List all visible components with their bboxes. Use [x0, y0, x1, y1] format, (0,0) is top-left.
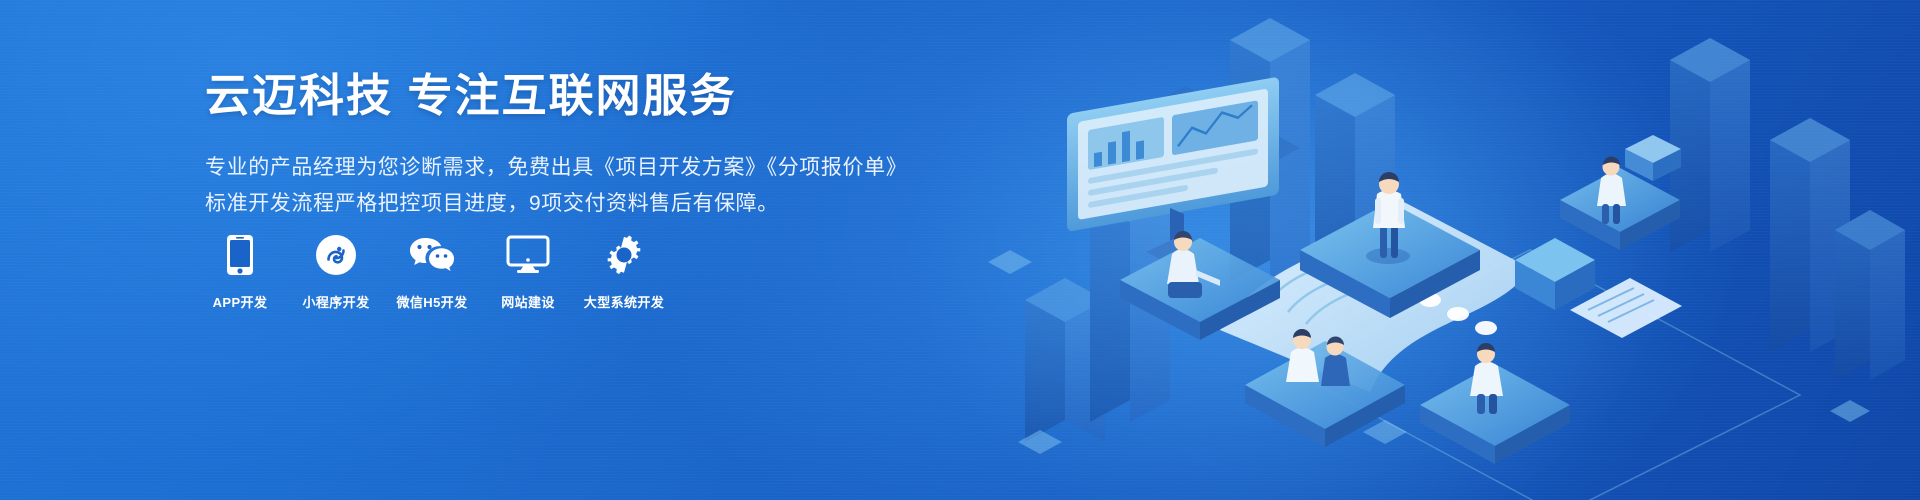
service-label: APP开发 [213, 292, 268, 311]
background-glow [900, 0, 1680, 500]
service-label: 微信H5开发 [396, 292, 467, 311]
mobile-phone-icon[interactable] [226, 232, 254, 278]
service-item-app[interactable]: APP开发 [205, 232, 275, 311]
monitor-icon[interactable] [506, 232, 550, 278]
subtitle-line-1: 专业的产品经理为您诊断需求，免费出具《项目开发方案》《分项报价单》 [205, 150, 905, 186]
service-item-website[interactable]: 网站建设 [493, 232, 563, 311]
gear-icon[interactable] [603, 232, 645, 278]
service-label: 小程序开发 [302, 292, 369, 311]
banner-subtitle: 专业的产品经理为您诊断需求，免费出具《项目开发方案》《分项报价单》 标准开发流程… [205, 150, 905, 222]
banner-text-block: 云迈科技 专注互联网服务 专业的产品经理为您诊断需求，免费出具《项目开发方案》《… [205, 68, 905, 222]
page-title: 云迈科技 专注互联网服务 [205, 68, 905, 124]
isometric-tech-team-illustration [970, 0, 1920, 500]
service-item-wechat-h5[interactable]: 微信H5开发 [397, 232, 467, 311]
service-item-large-system[interactable]: 大型系统开发 [589, 232, 659, 311]
service-label: 网站建设 [501, 292, 555, 311]
mini-program-icon[interactable] [315, 232, 357, 278]
service-label: 大型系统开发 [584, 292, 664, 311]
service-list: APP开发 小程序开发 [205, 232, 659, 311]
hero-banner: 云迈科技 专注互联网服务 专业的产品经理为您诊断需求，免费出具《项目开发方案》《… [0, 0, 1920, 500]
subtitle-line-2: 标准开发流程严格把控项目进度，9项交付资料售后有保障。 [205, 186, 905, 222]
wechat-icon[interactable] [408, 232, 456, 278]
service-item-mini-program[interactable]: 小程序开发 [301, 232, 371, 311]
